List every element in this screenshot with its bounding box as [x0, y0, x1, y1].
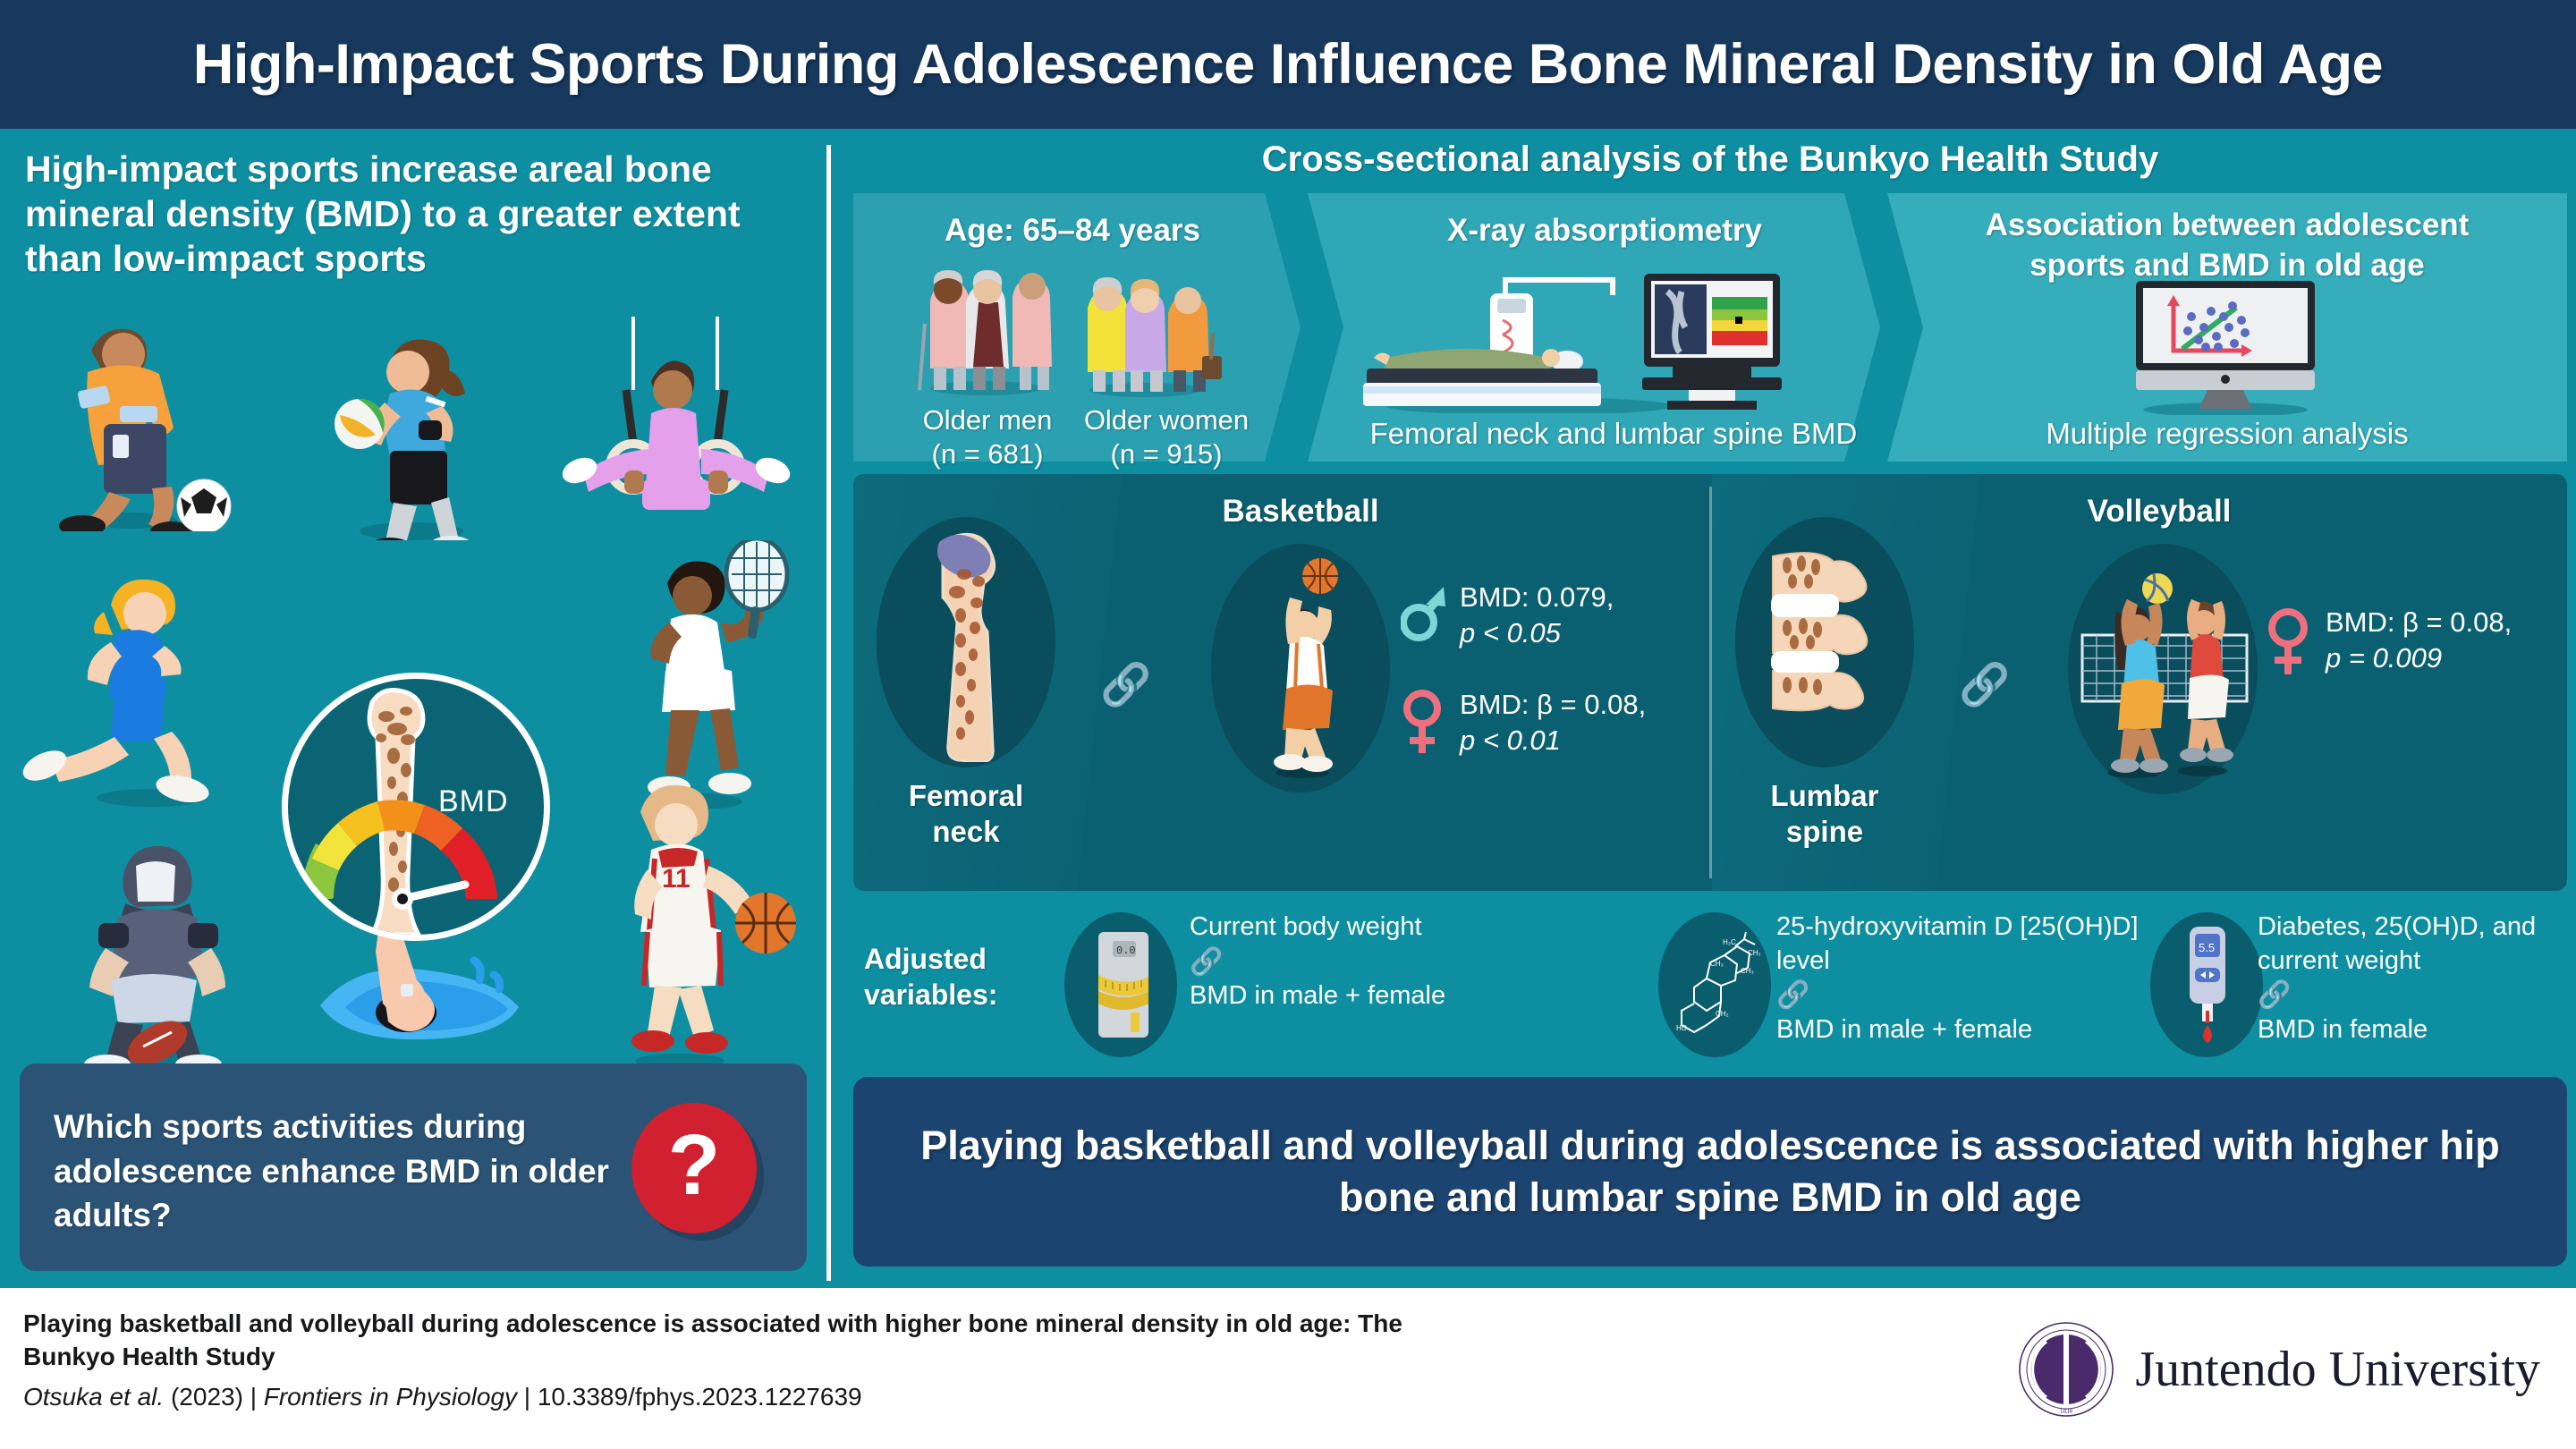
svg-text:CH₃: CH₃	[1741, 967, 1754, 975]
research-question-box: Which sports activities during adolescen…	[20, 1063, 807, 1271]
volleyball-player-icon	[304, 317, 510, 540]
volleyball-female-stat: BMD: β = 0.08, p = 0.009	[2267, 605, 2512, 680]
adj-vitd-line2: BMD in male + female	[1776, 1015, 2032, 1044]
flow-step-2-caption: Femoral neck and lumbar spine BMD	[1318, 417, 1909, 451]
female-symbol-icon	[1401, 687, 1447, 758]
lumbar-vertebrae-icon	[1757, 544, 1900, 741]
adjusted-variable-vitd-text: 25-hydroxyvitamin D [25(OH)D] level 🔗 BM…	[1776, 911, 2159, 1047]
volleyball-female-stat-text: BMD: β = 0.08, p = 0.009	[2326, 605, 2512, 677]
citation-journal: Frontiers in Physiology	[264, 1383, 517, 1411]
adjusted-variables-row: Adjusted variables: 0.0	[853, 905, 2567, 1066]
svg-text:CH₂: CH₂	[1716, 1010, 1729, 1018]
adj-diab-line1: Diabetes, 25(OH)D, and current weight	[2258, 912, 2536, 975]
flow-step-3-caption: Multiple regression analysis	[1941, 417, 2513, 451]
question-mark-icon: ?	[631, 1103, 757, 1233]
lumbar-spine-label: Lumbar spine	[1735, 778, 1914, 851]
svg-text:H₃C: H₃C	[1723, 938, 1736, 946]
basketball-female-bmd: BMD: β = 0.08,	[1460, 689, 1646, 720]
svg-text:CH₃: CH₃	[1710, 960, 1724, 968]
association-divider	[1709, 487, 1712, 878]
older-men-label: Older men	[898, 404, 1077, 436]
adjusted-variable-diabetes: 5.5 Diabetes, 25(OH)D, and current weigh…	[2150, 905, 2571, 1066]
link-symbol-vitd: 🔗	[1776, 980, 1809, 1010]
seal-year: 1838	[2060, 1408, 2073, 1415]
adj-weight-line1: Current body weight	[1190, 912, 1422, 941]
femoral-neck-label: Femoral neck	[877, 778, 1055, 851]
basketball-female-stat-text: BMD: β = 0.08, p < 0.01	[1460, 687, 1646, 759]
association-panel: Femoral neck 🔗 Basketball	[853, 474, 2567, 891]
soccer-player-icon	[27, 308, 233, 531]
basketball-male-stat: BMD: 0.079, p < 0.05	[1401, 580, 1614, 652]
flow-step-2-label: X-ray absorptiometry	[1354, 213, 1855, 249]
regression-monitor-illustration	[2106, 281, 2347, 415]
basketball-title: Basketball	[1148, 494, 1453, 530]
study-flow: Age: 65–84 years	[853, 193, 2567, 462]
left-headline: High-impact sports increase areal bone m…	[25, 147, 812, 281]
flow-step-3-label: Association between adolescent sports an…	[1941, 206, 2513, 286]
older-women-label: Older women	[1068, 404, 1265, 436]
american-football-player-icon	[36, 835, 268, 1068]
citation-title: Playing basketball and volleyball during…	[23, 1308, 1454, 1374]
citation-sep-2: |	[524, 1383, 530, 1411]
header-bar: High-Impact Sports During Adolescence In…	[0, 0, 2576, 129]
femur-bone-icon	[909, 530, 1025, 762]
conclusion-banner: Playing basketball and volleyball during…	[853, 1077, 2567, 1267]
university-name: Juntendo University	[2135, 1341, 2540, 1398]
glucose-value: 5.5	[2199, 941, 2215, 954]
research-question-text: Which sports activities during adolescen…	[54, 1105, 626, 1238]
basketball-male-stat-text: BMD: 0.079, p < 0.05	[1460, 580, 1614, 652]
female-symbol-icon-volleyball	[2267, 605, 2313, 680]
svg-text:11: 11	[662, 864, 691, 894]
dxa-scanner-illustration	[1360, 261, 1843, 413]
bmd-gauge-label: BMD	[438, 784, 509, 819]
left-panel: High-impact sports increase areal bone m…	[0, 129, 823, 1288]
citation-doi: 10.3389/fphys.2023.1227639	[538, 1383, 862, 1411]
volleyball-title: Volleyball	[2007, 494, 2311, 530]
basketball-male-p: p < 0.05	[1460, 617, 1561, 648]
adjusted-variable-weight-text: Current body weight 🔗 BMD in male + fema…	[1190, 911, 1445, 1013]
footer-bar: Playing basketball and volleyball during…	[0, 1288, 2576, 1449]
page-title: High-Impact Sports During Adolescence In…	[193, 32, 2383, 97]
adjusted-variable-weight: 0.0 Current body weight 🔗 BMD in male + …	[1064, 905, 1565, 1066]
right-panel: Cross-sectional analysis of the Bunkyo H…	[844, 129, 2576, 1288]
runner-icon	[18, 558, 277, 809]
glucose-meter-icon: 5.5	[2181, 925, 2234, 1046]
tennis-player-icon	[572, 540, 805, 809]
male-symbol-icon	[1401, 580, 1447, 644]
older-women-illustration	[1068, 270, 1229, 397]
basketball-player-icon: 11	[555, 773, 814, 1068]
conclusion-text: Playing basketball and volleyball during…	[853, 1120, 2567, 1224]
infographic-canvas: High-Impact Sports During Adolescence In…	[0, 0, 2576, 1449]
flow-step-1-label: Age: 65–84 years	[880, 213, 1265, 249]
citation-sep-1: |	[250, 1383, 257, 1411]
bmd-gauge-circle: BMD	[282, 673, 550, 941]
vitamin-d-molecule-icon: H₃C CH₃ CH₃ CH₃ HO CH₂	[1674, 930, 1760, 1036]
basketball-female-p: p < 0.01	[1460, 724, 1561, 756]
adj-vitd-line1: 25-hydroxyvitamin D [25(OH)D] level	[1776, 912, 2139, 975]
older-women-count: (n = 915)	[1068, 438, 1265, 470]
university-logo: 1838 Juntendo University	[2017, 1320, 2540, 1419]
right-panel-title: Cross-sectional analysis of the Bunkyo H…	[844, 140, 2576, 180]
basketball-male-bmd: BMD: 0.079,	[1460, 581, 1614, 613]
volleyball-spike-icon	[2075, 560, 2254, 780]
adj-diab-line2: BMD in female	[2258, 1015, 2428, 1044]
juntendo-seal-icon: 1838	[2017, 1320, 2115, 1419]
adj-weight-line2: BMD in male + female	[1190, 981, 1445, 1010]
svg-text:0.0: 0.0	[1116, 945, 1136, 957]
adjusted-variable-diabetes-text: Diabetes, 25(OH)D, and current weight 🔗 …	[2258, 911, 2571, 1047]
basketball-female-stat: BMD: β = 0.08, p < 0.01	[1401, 687, 1646, 759]
citation-authors: Otsuka et al.	[23, 1383, 164, 1411]
adjusted-variables-title: Adjusted variables:	[864, 941, 1052, 1013]
link-symbol-diabetes: 🔗	[2258, 980, 2291, 1010]
gymnast-rings-icon	[537, 317, 814, 540]
older-men-count: (n = 681)	[898, 438, 1077, 470]
citation-year: (2023)	[171, 1383, 243, 1411]
basketball-shooter-icon	[1245, 555, 1361, 778]
weight-scale-icon: 0.0	[1093, 928, 1154, 1043]
link-icon-lumbar: 🔗	[1959, 660, 2010, 709]
volleyball-female-bmd-label: BMD: β = 0.08,	[2326, 606, 2512, 638]
link-icon-femoral: 🔗	[1100, 660, 1151, 709]
question-mark-glyph: ?	[668, 1123, 721, 1208]
citation-meta: Otsuka et al. (2023) | Frontiers in Phys…	[23, 1383, 862, 1411]
volleyball-female-p: p = 0.009	[2326, 642, 2442, 674]
link-symbol-weight: 🔗	[1190, 947, 1223, 977]
adjusted-variable-vitd: H₃C CH₃ CH₃ CH₃ HO CH₂ 25-hydroxyvitamin…	[1658, 905, 2159, 1066]
svg-text:HO: HO	[1676, 1024, 1687, 1032]
older-men-illustration	[907, 261, 1068, 395]
column-divider	[826, 145, 831, 1281]
svg-text:CH₃: CH₃	[1748, 949, 1760, 957]
